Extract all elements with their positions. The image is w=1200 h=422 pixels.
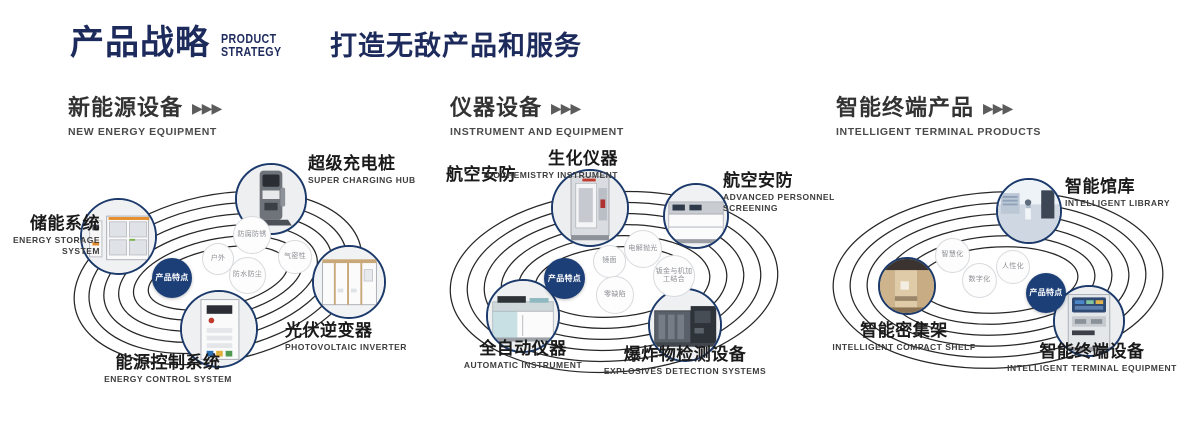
label-cn-explosives: 爆炸物检测设备 bbox=[600, 346, 770, 364]
label-automatic-instrument: 全自动仪器 AUTOMATIC INSTRUMENT bbox=[438, 340, 608, 371]
label-intelligent-library: 智能馆库 INTELLIGENT LIBRARY bbox=[1065, 178, 1200, 209]
chevron-triple-icon-2: ▶▶▶ bbox=[983, 101, 1012, 115]
bubble-text-3-1: 数字化 bbox=[969, 276, 991, 285]
bubble-core-text-3: 产品特点 bbox=[1029, 288, 1062, 298]
page-header: 产品战略 PRODUCT STRATEGY bbox=[70, 26, 295, 60]
label-en-photovoltaic: PHOTOVOLTAIC INVERTER bbox=[285, 342, 435, 353]
label-cn-energy-control: 能源控制系统 bbox=[68, 354, 268, 372]
section-title-text-1: 仪器设备 bbox=[450, 97, 542, 119]
bubble-text-1-2: 防水防尘 bbox=[233, 271, 262, 280]
chevron-triple-icon-1: ▶▶▶ bbox=[551, 101, 580, 115]
label-en-energy-storage: ENERGY STORAGE SYSTEM bbox=[8, 235, 100, 256]
diagram-instrument: 航空安防 生化仪器 BIOCHEMISTRY INSTRUMENT 航空安防 A… bbox=[418, 150, 818, 405]
bubble-feature-2-0: 镜面 bbox=[593, 245, 626, 278]
bubble-feature-1-3: 气密性 bbox=[278, 240, 312, 274]
biochemistry-instrument-icon bbox=[553, 171, 627, 245]
node-intelligent-compact-shelf[interactable] bbox=[878, 257, 936, 315]
section-title-cn-2: 智能终端产品 ▶▶▶ bbox=[836, 97, 1041, 119]
label-en-explosives: EXPLOSIVES DETECTION SYSTEMS bbox=[600, 366, 770, 377]
bubble-core-text-1: 产品特点 bbox=[155, 273, 188, 283]
bubble-text-2-0: 镜面 bbox=[602, 257, 617, 266]
label-cn-intelligent-terminal: 智能终端设备 bbox=[1007, 343, 1177, 361]
label-photovoltaic-inverter: 光伏逆变器 PHOTOVOLTAIC INVERTER bbox=[285, 322, 435, 353]
bubble-core-product-features-2: 产品特点 bbox=[544, 258, 585, 299]
bubble-feature-2-2: 零缺陷 bbox=[596, 276, 634, 314]
section-title-cn-1: 仪器设备 ▶▶▶ bbox=[450, 97, 624, 119]
label-cn-intelligent-library: 智能馆库 bbox=[1065, 178, 1200, 196]
bubble-core-product-features-3: 产品特点 bbox=[1026, 273, 1066, 313]
section-title-en-2: INTELLIGENT TERMINAL PRODUCTS bbox=[836, 126, 1041, 138]
section-title-en-1: INSTRUMENT AND EQUIPMENT bbox=[450, 126, 624, 138]
page-title-cn: 产品战略 bbox=[70, 26, 210, 60]
label-cn-automatic: 全自动仪器 bbox=[438, 340, 608, 358]
bubble-text-3-0: 智慧化 bbox=[942, 251, 964, 260]
node-photovoltaic-inverter[interactable] bbox=[312, 245, 386, 319]
label-intelligent-terminal-equipment: 智能终端设备 INTELLIGENT TERMINAL EQUIPMENT bbox=[1007, 343, 1177, 374]
inverter-cabinet-icon bbox=[314, 247, 384, 317]
page-title-en: PRODUCT STRATEGY bbox=[221, 32, 282, 58]
section-title-cn-0: 新能源设备 ▶▶▶ bbox=[68, 97, 221, 119]
slide-canvas: 产品战略 PRODUCT STRATEGY 打造无敌产品和服务 新能源设备 ▶▶… bbox=[0, 0, 1200, 422]
diagram-intelligent-terminal: 智能馆库 INTELLIGENT LIBRARY 智能终端设备 IN bbox=[800, 150, 1200, 405]
label-intelligent-compact-shelf: 智能密集架 INTELLIGENT COMPACT SHELF bbox=[814, 322, 994, 353]
node-advanced-personnel-screening[interactable] bbox=[663, 183, 729, 249]
label-en-biochemistry: BIOCHEMISTRY INSTRUMENT bbox=[438, 170, 618, 181]
label-biochemistry-instrument: 生化仪器 BIOCHEMISTRY INSTRUMENT bbox=[438, 150, 618, 181]
section-heading-new-energy: 新能源设备 ▶▶▶ NEW ENERGY EQUIPMENT bbox=[68, 97, 221, 138]
section-title-text-0: 新能源设备 bbox=[68, 97, 183, 119]
page-title-en-line2: STRATEGY bbox=[221, 45, 282, 58]
bubble-text-2-2: 零缺陷 bbox=[604, 291, 626, 300]
label-cn-biochemistry: 生化仪器 bbox=[438, 150, 618, 168]
compact-shelf-photo-icon bbox=[880, 259, 934, 313]
bubble-feature-3-2: 人性化 bbox=[996, 250, 1030, 284]
label-en-intelligent-library: INTELLIGENT LIBRARY bbox=[1065, 198, 1200, 209]
node-intelligent-library[interactable] bbox=[996, 178, 1062, 244]
bubble-text-1-1: 防腐防锈 bbox=[237, 231, 266, 240]
label-energy-control-system: 能源控制系统 ENERGY CONTROL SYSTEM bbox=[68, 354, 268, 385]
bubble-text-1-3: 气密性 bbox=[284, 253, 306, 262]
library-interior-photo-icon bbox=[998, 180, 1060, 242]
label-energy-storage-system: 储能系统 ENERGY STORAGE SYSTEM bbox=[8, 215, 100, 257]
bubble-feature-3-1: 数字化 bbox=[962, 263, 997, 298]
diagram-new-energy: 储能系统 ENERGY STORAGE SYSTEM 超级充电桩 SUPER C… bbox=[30, 150, 430, 405]
label-cn-compact-shelf: 智能密集架 bbox=[814, 322, 994, 340]
bubble-feature-3-0: 智慧化 bbox=[935, 238, 970, 273]
bubble-feature-1-2: 防水防尘 bbox=[229, 257, 266, 294]
label-en-energy-control: ENERGY CONTROL SYSTEM bbox=[68, 374, 268, 385]
bubble-feature-2-3: 钣金与机加工结合 bbox=[653, 255, 695, 297]
section-heading-instrument: 仪器设备 ▶▶▶ INSTRUMENT AND EQUIPMENT bbox=[450, 97, 624, 138]
page-subtitle: 打造无敌产品和服务 bbox=[330, 33, 582, 60]
bubble-feature-1-1: 防腐防锈 bbox=[233, 216, 271, 254]
screening-machine-icon bbox=[665, 185, 727, 247]
label-explosives-detection-systems: 爆炸物检测设备 EXPLOSIVES DETECTION SYSTEMS bbox=[600, 346, 770, 377]
chevron-triple-icon-0: ▶▶▶ bbox=[192, 101, 221, 115]
label-cn-photovoltaic: 光伏逆变器 bbox=[285, 322, 435, 340]
section-title-text-2: 智能终端产品 bbox=[836, 97, 974, 119]
section-title-en-0: NEW ENERGY EQUIPMENT bbox=[68, 126, 221, 138]
bubble-text-3-2: 人性化 bbox=[1002, 263, 1024, 272]
label-en-intelligent-terminal: INTELLIGENT TERMINAL EQUIPMENT bbox=[1007, 363, 1177, 374]
label-en-compact-shelf: INTELLIGENT COMPACT SHELF bbox=[814, 342, 994, 353]
bubble-text-1-0: 户外 bbox=[211, 255, 226, 264]
bubble-text-2-1: 电解抛光 bbox=[628, 245, 657, 254]
label-en-automatic: AUTOMATIC INSTRUMENT bbox=[438, 360, 608, 371]
bubble-core-product-features-1: 产品特点 bbox=[152, 258, 192, 298]
label-cn-energy-storage: 储能系统 bbox=[8, 215, 100, 233]
bubble-core-text-2: 产品特点 bbox=[548, 274, 581, 284]
section-heading-intelligent: 智能终端产品 ▶▶▶ INTELLIGENT TERMINAL PRODUCTS bbox=[836, 97, 1041, 138]
bubble-text-2-3: 钣金与机加工结合 bbox=[654, 268, 694, 285]
